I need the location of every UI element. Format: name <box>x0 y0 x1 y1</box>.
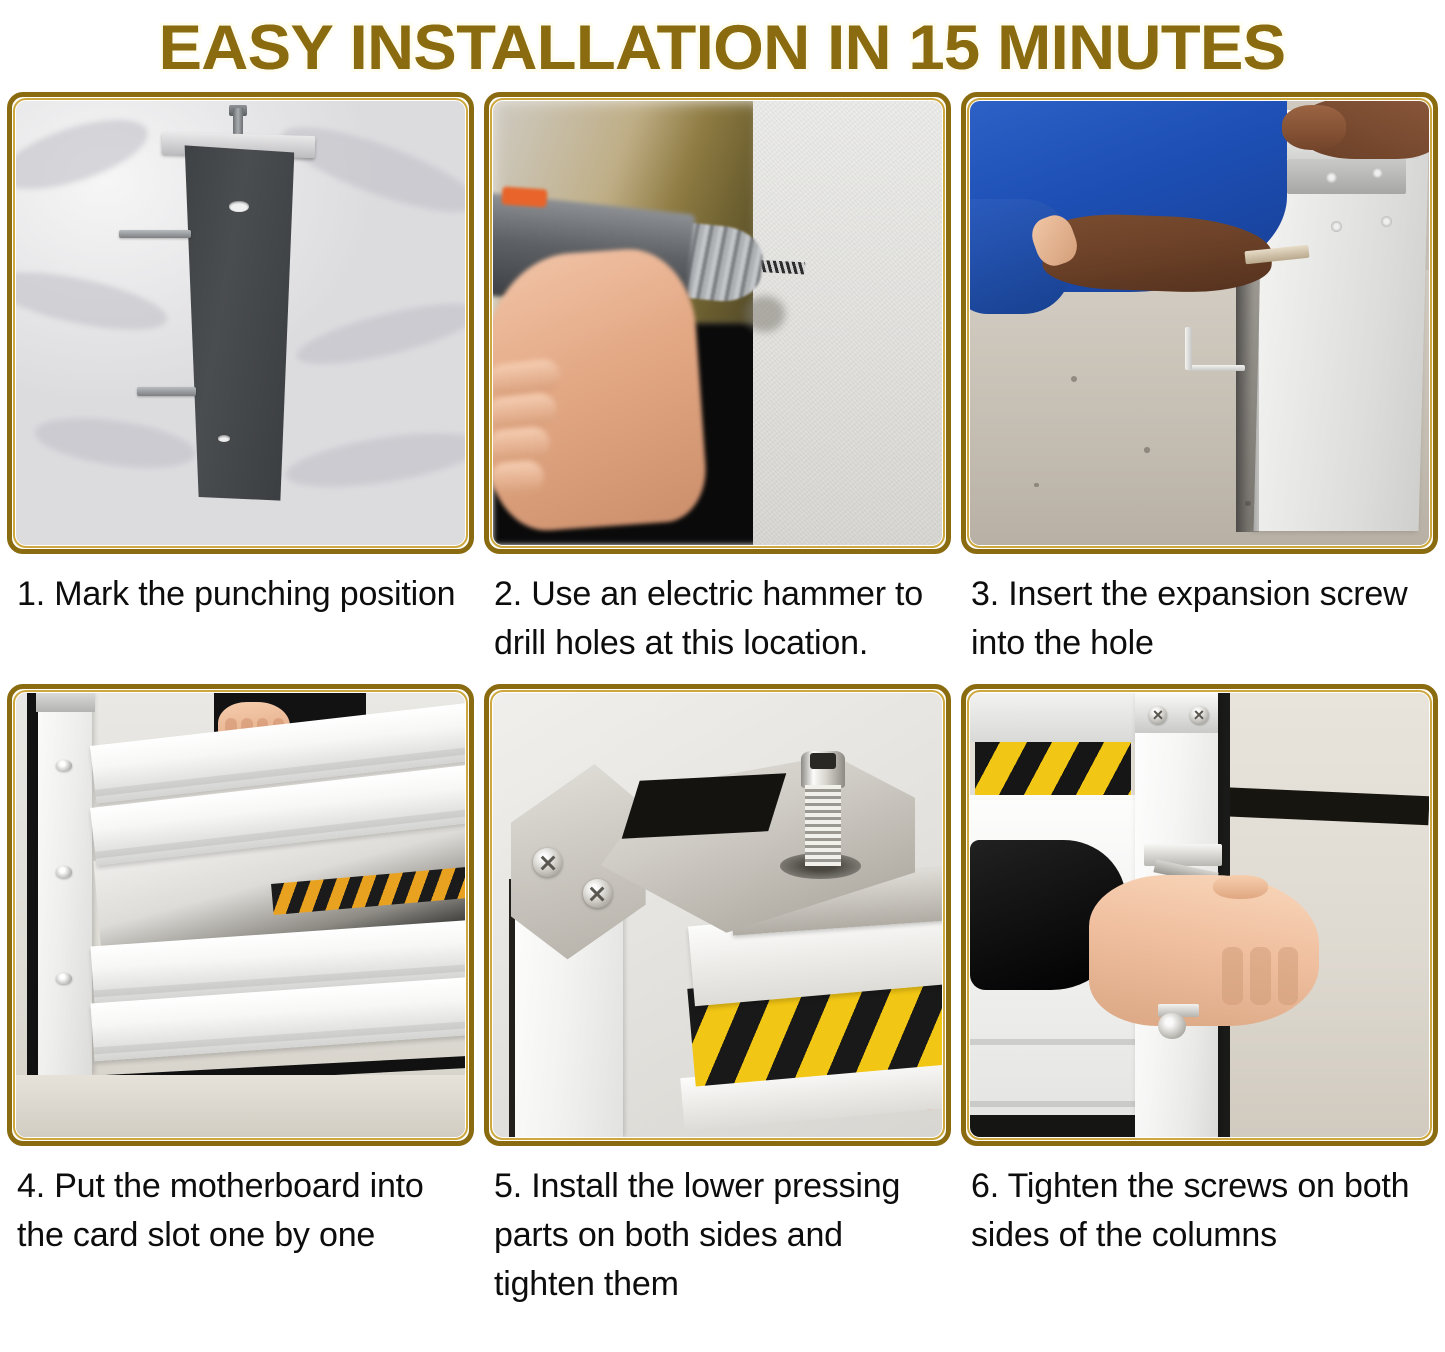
column-cap-screw-right <box>1190 706 1208 724</box>
step-card-5: 5. Install the lower pressing parts on b… <box>484 684 961 1309</box>
side-stud-upper <box>119 230 191 238</box>
step-1-photo-frame <box>7 92 474 554</box>
column-lower-screw <box>1158 1013 1186 1040</box>
step-3-photo-expansion-screw <box>970 101 1429 545</box>
worker-right-hand <box>1282 105 1346 149</box>
floor-seal-strip <box>970 1115 1135 1137</box>
step-card-6: 6. Tighten the screws on both sides of t… <box>961 684 1438 1309</box>
step-1-photo-mark-position <box>16 101 465 545</box>
step-6-caption: 6. Tighten the screws on both sides of t… <box>961 1146 1438 1276</box>
post-hole-lower <box>218 435 230 442</box>
column-mount-plate <box>1287 159 1406 195</box>
step-4-caption: 4. Put the motherboard into the card slo… <box>7 1146 474 1276</box>
bracket-screw-upper <box>533 848 562 876</box>
hex-socket-bolt <box>801 751 846 866</box>
installation-steps-grid: 1. Mark the punching position <box>0 92 1445 1309</box>
mounting-post <box>178 145 295 500</box>
hazard-stripe-tape <box>975 742 1131 795</box>
floor-surface <box>16 1075 465 1137</box>
plate-slot-opening <box>622 774 786 839</box>
hand-holding-drill <box>493 245 709 535</box>
step-5-caption: 5. Install the lower pressing parts on b… <box>484 1146 951 1309</box>
header-banner: EASY INSTALLATION IN 15 MINUTES <box>0 0 1445 92</box>
drill-trigger <box>501 186 547 207</box>
left-column-post <box>38 693 92 1075</box>
bracket-screw-lower <box>583 879 612 907</box>
step-2-photo-drill-holes <box>493 101 942 545</box>
side-stud-lower <box>137 387 195 395</box>
post-hole-upper <box>229 201 248 212</box>
step-3-caption: 3. Insert the expansion screw into the h… <box>961 554 1438 684</box>
step-4-photo-insert-boards <box>16 693 465 1137</box>
allen-key-icon <box>1181 327 1245 385</box>
upper-barrier-board <box>970 693 1135 742</box>
step-card-3: 3. Insert the expansion screw into the h… <box>961 92 1438 684</box>
step-3-photo-frame <box>961 92 1438 554</box>
step-1-caption: 1. Mark the punching position <box>7 554 474 684</box>
step-card-2: 2. Use an electric hammer to drill holes… <box>484 92 961 684</box>
drill-dust <box>744 296 784 332</box>
step-5-photo-pressing-parts <box>493 693 942 1137</box>
page-title: EASY INSTALLATION IN 15 MINUTES <box>159 17 1286 80</box>
step-2-caption: 2. Use an electric hammer to drill holes… <box>484 554 951 684</box>
step-6-photo-frame <box>961 684 1438 1146</box>
steps-row-2: 4. Put the motherboard into the card slo… <box>7 684 1438 1309</box>
step-6-photo-tighten-screws <box>970 693 1429 1137</box>
step-5-photo-frame <box>484 684 951 1146</box>
step-4-photo-frame <box>7 684 474 1146</box>
steps-row-1: 1. Mark the punching position <box>7 92 1438 684</box>
left-column-cap <box>36 693 94 712</box>
step-2-photo-frame <box>484 92 951 554</box>
step-card-1: 1. Mark the punching position <box>7 92 484 684</box>
step-card-4: 4. Put the motherboard into the card slo… <box>7 684 484 1309</box>
hand-tightening-screw <box>1089 875 1318 1026</box>
